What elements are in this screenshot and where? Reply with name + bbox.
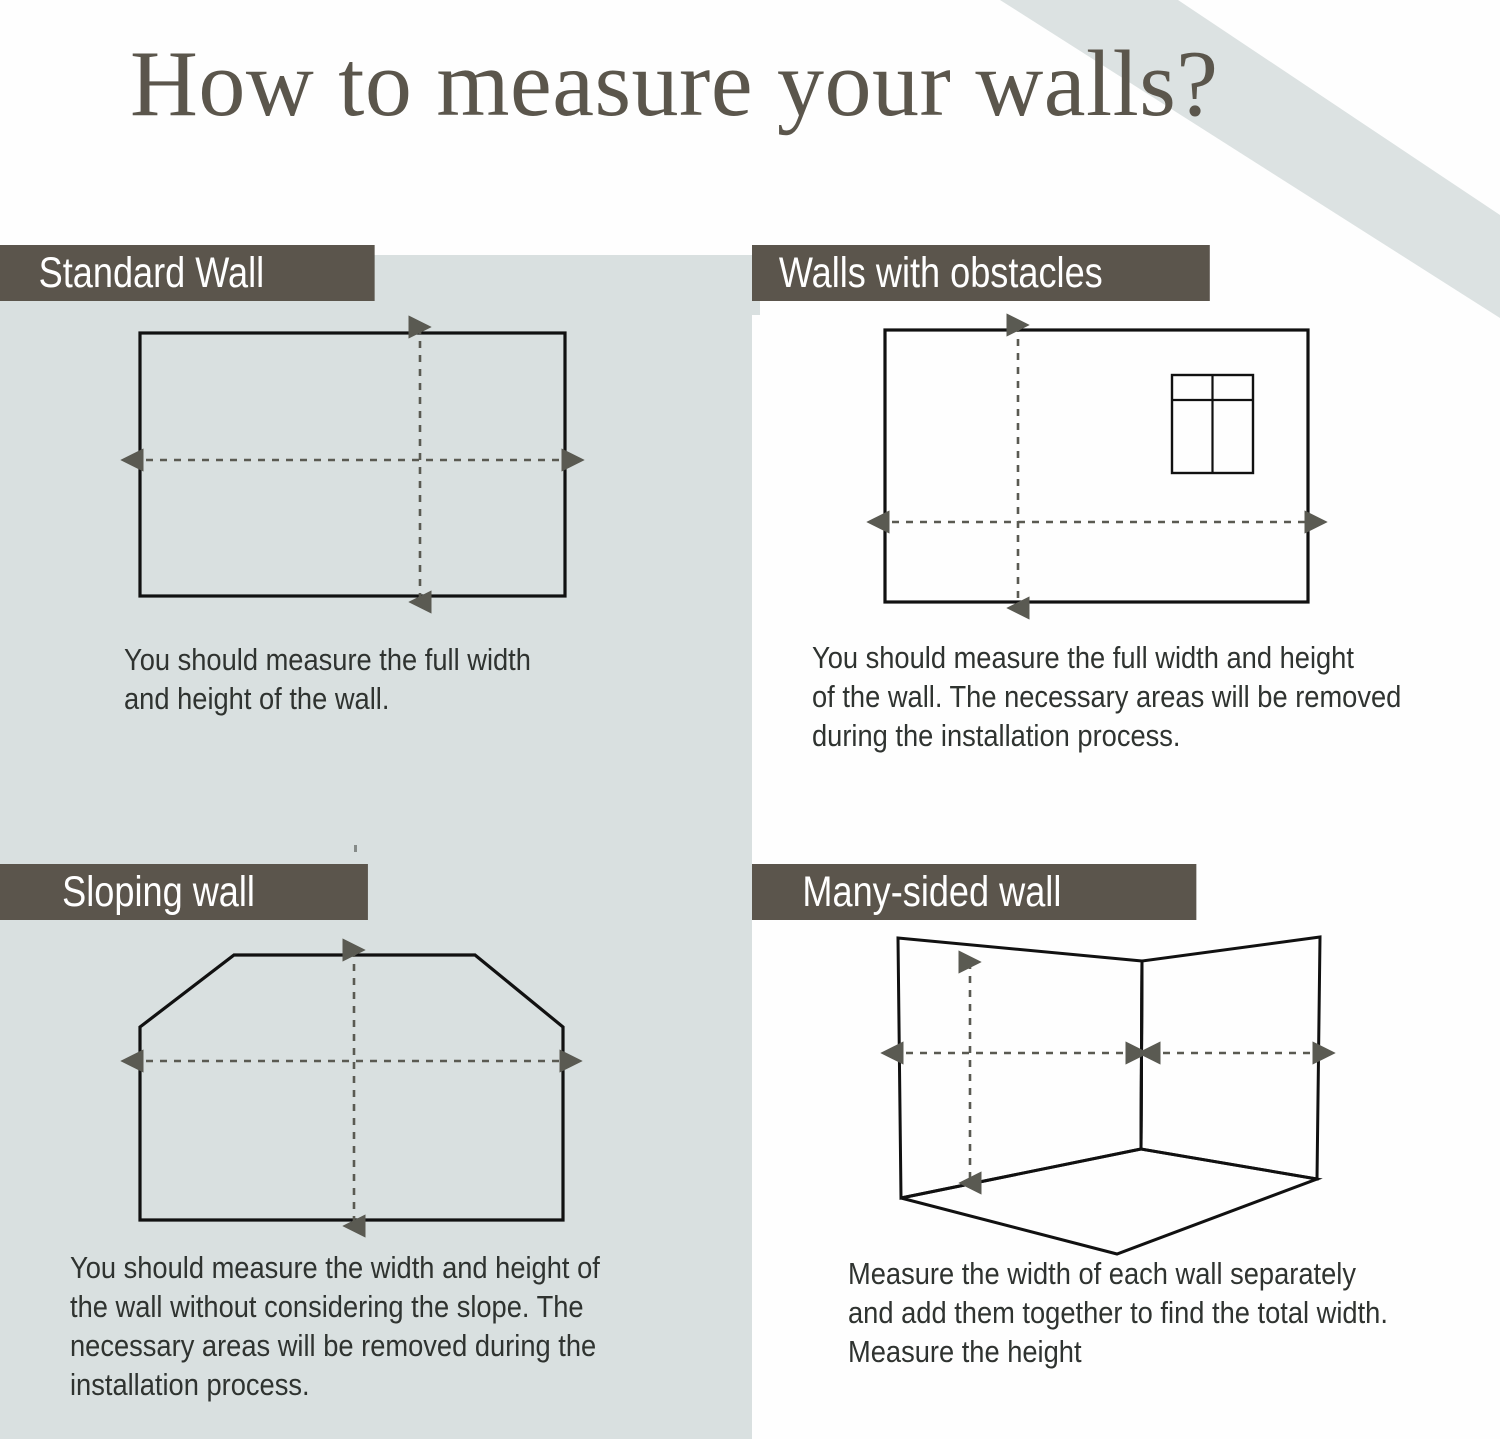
caption-walls-with-obstacles: You should measure the full width and he…: [812, 638, 1481, 755]
infographic-page: How to measure your walls? Standard Wall…: [0, 0, 1500, 1439]
section-header-label: Walls with obstacles: [779, 245, 1210, 301]
caption-standard-wall: You should measure the full width and he…: [124, 640, 670, 718]
section-header-many-sided-wall: Many-sided wall: [752, 864, 1196, 920]
section-header-sloping-wall: Sloping wall: [0, 864, 368, 920]
section-header-standard-wall: Standard Wall: [0, 245, 375, 301]
wall-outline: [140, 955, 563, 1220]
diagram-standard-wall: [100, 305, 620, 625]
page-title: How to measure your walls?: [130, 34, 1380, 136]
diagram-many-sided-wall: [860, 920, 1360, 1270]
wall-outline: [885, 330, 1308, 602]
floor-face: [901, 1149, 1317, 1254]
inner-corner-edge: [1141, 961, 1142, 1149]
caption-many-sided-wall: Measure the width of each wall separatel…: [848, 1254, 1499, 1371]
left-wall-face: [898, 938, 1142, 1198]
window-obstacle-icon: [1172, 375, 1253, 473]
stray-mark: [354, 845, 357, 852]
section-header-walls-with-obstacles: Walls with obstacles: [752, 245, 1210, 301]
section-header-label: Standard Wall: [39, 245, 375, 301]
caption-sloping-wall: You should measure the width and height …: [70, 1248, 704, 1404]
section-header-label: Many-sided wall: [802, 864, 1196, 920]
section-header-label: Sloping wall: [62, 864, 368, 920]
right-wall-face: [1141, 937, 1320, 1179]
diagram-sloping-wall: [100, 930, 620, 1250]
diagram-walls-with-obstacles: [850, 305, 1360, 625]
wall-outline: [140, 333, 565, 596]
